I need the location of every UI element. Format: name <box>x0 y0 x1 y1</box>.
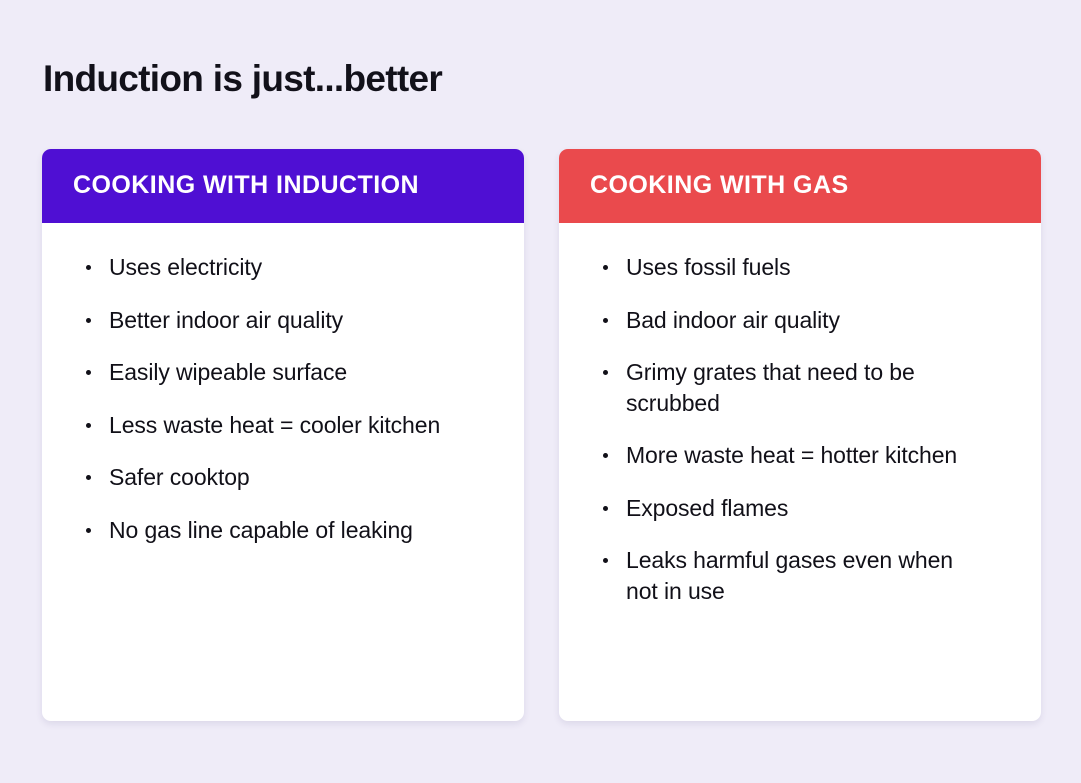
list-item: Better indoor air quality <box>84 305 456 336</box>
list-item: Uses fossil fuels <box>601 252 969 283</box>
list-item: Less waste heat = cooler kitchen <box>84 410 456 441</box>
list-item: Exposed flames <box>601 493 969 524</box>
page-title: Induction is just...better <box>43 58 442 101</box>
card-header-gas: COOKING WITH GAS <box>559 149 1041 223</box>
card-header-title-induction: COOKING WITH INDUCTION <box>73 172 419 200</box>
card-body-gas: Uses fossil fuels Bad indoor air quality… <box>559 223 1041 721</box>
comparison-card-gas: COOKING WITH GAS Uses fossil fuels Bad i… <box>559 149 1041 721</box>
list-item: Leaks harmful gases even when not in use <box>601 545 969 606</box>
list-item: No gas line capable of leaking <box>84 515 456 546</box>
comparison-infographic: Induction is just...better COOKING WITH … <box>0 0 1081 783</box>
list-item: Uses electricity <box>84 252 456 283</box>
list-item: Safer cooktop <box>84 462 456 493</box>
bullet-list-induction: Uses electricity Better indoor air quali… <box>84 252 490 545</box>
comparison-card-induction: COOKING WITH INDUCTION Uses electricity … <box>42 149 524 721</box>
list-item: Grimy grates that need to be scrubbed <box>601 357 969 418</box>
card-header-title-gas: COOKING WITH GAS <box>590 172 849 200</box>
list-item: Bad indoor air quality <box>601 305 969 336</box>
list-item: Easily wipeable surface <box>84 357 456 388</box>
list-item: More waste heat = hotter kitchen <box>601 440 969 471</box>
card-header-induction: COOKING WITH INDUCTION <box>42 149 524 223</box>
comparison-card-grid: COOKING WITH INDUCTION Uses electricity … <box>42 149 1041 721</box>
bullet-list-gas: Uses fossil fuels Bad indoor air quality… <box>601 252 1007 607</box>
card-body-induction: Uses electricity Better indoor air quali… <box>42 223 524 721</box>
